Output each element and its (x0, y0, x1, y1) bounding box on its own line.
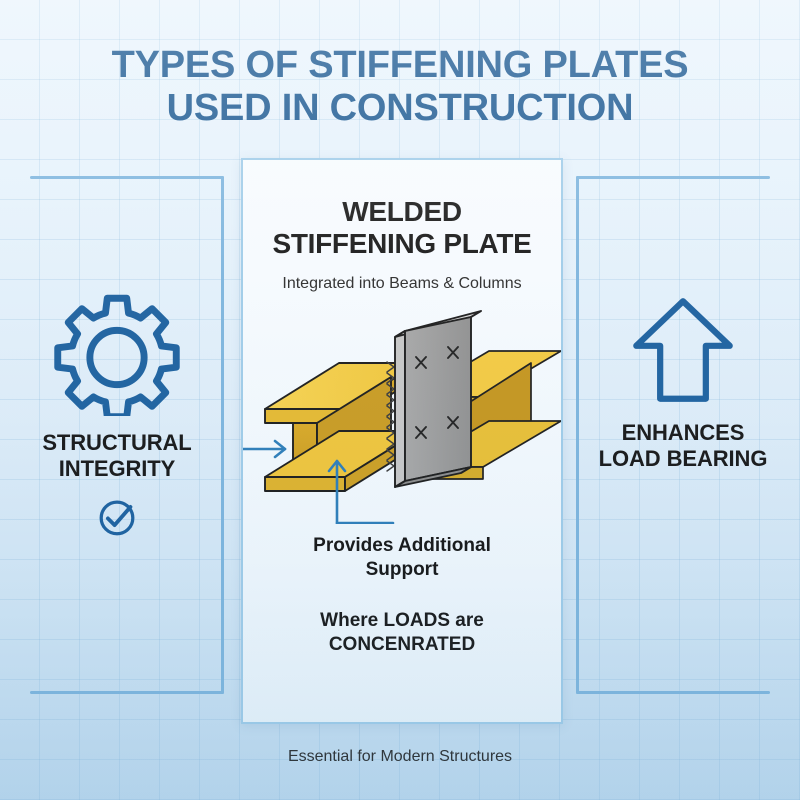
footnote2-line2: CONCENRATED (329, 634, 475, 655)
bracket-line-top (576, 176, 770, 179)
footer-caption: Essential for Modern Structures (0, 748, 800, 766)
check-circle-icon (12, 494, 222, 540)
label-line1: STRUCTURAL (42, 430, 191, 455)
label-line2: INTEGRITY (59, 456, 175, 481)
main-card: WELDED STIFFENING PLATE Integrated into … (241, 158, 563, 724)
footnote1-line2: Support (366, 559, 439, 580)
card-title-line1: WELDED (342, 196, 462, 227)
up-arrow-icon (578, 296, 788, 406)
gear-icon (12, 288, 222, 416)
load-direction-arrow (243, 441, 285, 457)
card-title: WELDED STIFFENING PLATE (243, 196, 561, 261)
welded-stiffening-plate-diagram (243, 299, 561, 524)
feature-label-enhances-load-bearing: ENHANCES LOAD BEARING (578, 420, 788, 472)
page-title: TYPES OF STIFFENING PLATES USED IN CONST… (0, 44, 800, 129)
stiffening-plate (395, 311, 481, 487)
feature-enhances-load-bearing: ENHANCES LOAD BEARING (578, 296, 788, 472)
page-title-line1: TYPES OF STIFFENING PLATES (112, 44, 689, 86)
card-subtitle: Integrated into Beams & Columns (243, 275, 561, 293)
label-line2: LOAD BEARING (599, 446, 768, 471)
footnote1-line1: Provides Additional (313, 535, 491, 556)
bracket-line-bottom (30, 691, 224, 694)
card-footnote-secondary: Where LOADS are CONCENRATED (243, 609, 561, 658)
infographic-canvas: TYPES OF STIFFENING PLATES USED IN CONST… (0, 0, 800, 800)
page-title-line2: USED IN CONSTRUCTION (0, 87, 800, 130)
card-title-line2: STIFFENING PLATE (272, 228, 531, 259)
feature-structural-integrity: STRUCTURAL INTEGRITY (12, 288, 222, 540)
feature-label-structural-integrity: STRUCTURAL INTEGRITY (12, 430, 222, 482)
bracket-line-top (30, 176, 224, 179)
footnote2-line1: Where LOADS are (320, 610, 484, 631)
card-footnote-primary: Provides Additional Support (243, 534, 561, 583)
label-line1: ENHANCES (622, 420, 745, 445)
bracket-line-bottom (576, 691, 770, 694)
